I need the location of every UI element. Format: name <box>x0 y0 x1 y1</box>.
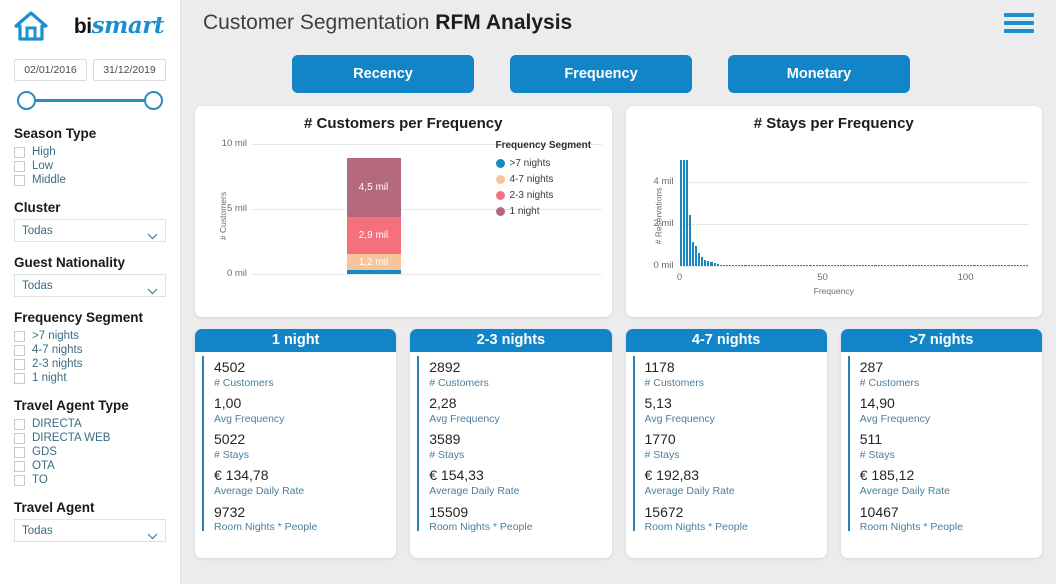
filter-checkbox-row[interactable]: 2-3 nights <box>14 357 166 371</box>
histogram-bar[interactable] <box>766 265 768 266</box>
x-axis-tick: 0 <box>677 272 682 283</box>
kpi-label: # Customers <box>645 377 827 391</box>
y-axis-tick: 4 mil <box>634 176 674 187</box>
histogram-bar[interactable] <box>915 265 917 266</box>
histogram-bar[interactable] <box>748 265 750 266</box>
filter-group-cluster: ClusterTodas <box>14 200 166 242</box>
kpi-label: Average Daily Rate <box>860 485 1042 499</box>
histogram-bar[interactable] <box>738 265 740 266</box>
histogram-bar[interactable] <box>720 265 722 266</box>
kpi-cards-row: 1 night4502# Customers1,00Avg Frequency5… <box>181 317 1056 558</box>
kpi-metric: 2892# Customers <box>419 359 611 390</box>
kpi-metric: 15672Room Nights * People <box>635 504 827 535</box>
histogram-bar[interactable] <box>1017 265 1019 266</box>
filter-title: Frequency Segment <box>14 310 166 325</box>
histogram-bar[interactable] <box>825 265 827 266</box>
filter-checkbox-row[interactable]: TO <box>14 473 166 487</box>
kpi-label: # Stays <box>429 449 611 463</box>
filter-title: Travel Agent <box>14 500 166 515</box>
histogram-bar[interactable] <box>788 265 790 266</box>
histogram-bar[interactable] <box>871 265 873 266</box>
legend-label: >7 nights <box>510 158 551 169</box>
histogram-bar[interactable] <box>942 265 944 266</box>
histogram-bar[interactable] <box>741 265 743 266</box>
histogram-bar[interactable] <box>822 265 824 266</box>
histogram-bar[interactable] <box>831 265 833 266</box>
home-icon[interactable] <box>14 10 48 42</box>
x-axis-tick: 50 <box>817 272 828 283</box>
histogram-bar[interactable] <box>977 265 979 266</box>
logo-bi: bi <box>74 15 92 38</box>
histogram-bar[interactable] <box>1007 265 1009 266</box>
bar-segment-2-3-nights[interactable]: 2,9 mil <box>347 217 401 255</box>
filter-group-frequency-segment: Frequency Segment>7 nights4-7 nights2-3 … <box>14 310 166 385</box>
kpi-label: Room Nights * People <box>645 521 827 535</box>
histogram-bar[interactable] <box>698 253 700 266</box>
histogram-bar[interactable] <box>874 265 876 266</box>
kpi-metric: 15509Room Nights * People <box>419 504 611 535</box>
histogram-bar[interactable] <box>912 265 914 266</box>
filter-title: Season Type <box>14 126 166 141</box>
kpi-metric: € 134,78Average Daily Rate <box>204 467 396 498</box>
histogram-bar[interactable] <box>785 265 787 266</box>
kpi-label: # Customers <box>429 377 611 391</box>
histogram-bar[interactable] <box>791 265 793 266</box>
histogram-bar[interactable] <box>843 265 845 266</box>
kpi-card-title: 1 night <box>195 329 396 352</box>
kpi-value: € 134,78 <box>214 467 396 485</box>
histogram-bar[interactable] <box>847 265 849 266</box>
y-axis-label: # Customers <box>218 192 228 240</box>
histogram-bar[interactable] <box>896 265 898 266</box>
histogram-bar[interactable] <box>964 265 966 266</box>
histogram-bar[interactable] <box>859 265 861 266</box>
histogram-bar[interactable] <box>933 265 935 266</box>
kpi-label: Room Nights * People <box>860 521 1042 535</box>
filter-checkbox-label: High <box>32 146 56 158</box>
histogram-bar[interactable] <box>970 265 972 266</box>
logo-smart: smart <box>92 12 164 39</box>
y-axis-tick: 10 mil <box>205 138 247 149</box>
kpi-metric: 1770# Stays <box>635 431 827 462</box>
histogram-bar[interactable] <box>757 265 759 266</box>
histogram-bar[interactable] <box>930 265 932 266</box>
histogram-bar[interactable] <box>695 246 697 266</box>
histogram-bar[interactable] <box>714 263 716 266</box>
brand-bar: bismart <box>14 0 166 45</box>
filter-group-travel-agent: Travel AgentTodas <box>14 500 166 542</box>
y-axis-label: # Reservations <box>653 188 663 245</box>
kpi-metric: 10467Room Nights * People <box>850 504 1042 535</box>
kpi-card-title: 2-3 nights <box>410 329 611 352</box>
tab-bar: RecencyFrequencyMonetary <box>181 45 1056 93</box>
slider-handle-right[interactable] <box>144 91 163 110</box>
gridline <box>680 266 1029 267</box>
kpi-metric: € 154,33Average Daily Rate <box>419 467 611 498</box>
filter-checkbox-row[interactable]: GDS <box>14 445 166 459</box>
histogram-bar[interactable] <box>816 265 818 266</box>
histogram-bar[interactable] <box>744 265 746 266</box>
filter-checkbox-row[interactable]: DIRECTA WEB <box>14 431 166 445</box>
page-title-light: Customer Segmentation <box>203 11 435 34</box>
charts-row: # Customers per Frequency # Customers 0 … <box>181 93 1056 317</box>
histogram-bar[interactable] <box>834 265 836 266</box>
kpi-value: 14,90 <box>860 395 1042 413</box>
histogram-bar[interactable] <box>967 265 969 266</box>
histogram-bar[interactable] <box>1011 265 1013 266</box>
histogram-bar[interactable] <box>763 265 765 266</box>
kpi-value: 3589 <box>429 431 611 449</box>
kpi-card: 2-3 nights2892# Customers2,28Avg Frequen… <box>410 329 611 558</box>
histogram-bar[interactable] <box>769 265 771 266</box>
histogram-bar[interactable] <box>998 265 1000 266</box>
filter-list: Season TypeHighLowMiddleClusterTodasGues… <box>14 126 166 542</box>
tab-frequency[interactable]: Frequency <box>510 55 692 93</box>
kpi-label: Average Daily Rate <box>214 485 396 499</box>
dropdown-value: Todas <box>22 225 53 237</box>
histogram-bar[interactable] <box>995 265 997 266</box>
kpi-metric: 2,28Avg Frequency <box>419 395 611 426</box>
y-axis-tick: 0 mil <box>634 260 674 271</box>
histogram-bar[interactable] <box>819 265 821 266</box>
kpi-value: 2,28 <box>429 395 611 413</box>
histogram-bar[interactable] <box>760 265 762 266</box>
y-axis-tick: 2 mil <box>634 218 674 229</box>
checkbox-icon[interactable] <box>14 419 25 430</box>
kpi-value: 10467 <box>860 504 1042 522</box>
date-to-input[interactable]: 31/12/2019 <box>93 59 166 81</box>
kpi-card-body: 4502# Customers1,00Avg Frequency5022# St… <box>195 352 396 535</box>
kpi-value: 1,00 <box>214 395 396 413</box>
kpi-card: >7 nights287# Customers14,90Avg Frequenc… <box>841 329 1042 558</box>
histogram-bar[interactable] <box>837 265 839 266</box>
histogram-bar[interactable] <box>680 160 682 266</box>
filter-group-guest-nationality: Guest NationalityTodas <box>14 255 166 297</box>
kpi-label: # Customers <box>860 377 1042 391</box>
histogram-bar[interactable] <box>726 265 728 266</box>
filter-checkbox-row[interactable]: 1 night <box>14 371 166 385</box>
kpi-label: Avg Frequency <box>860 413 1042 427</box>
chart-title: # Customers per Frequency <box>195 106 612 132</box>
histogram-bar[interactable] <box>775 265 777 266</box>
histogram-bar[interactable] <box>850 265 852 266</box>
kpi-card-title: 4-7 nights <box>626 329 827 352</box>
tab-monetary[interactable]: Monetary <box>728 55 910 93</box>
chevron-down-icon[interactable] <box>147 282 158 289</box>
chevron-down-icon[interactable] <box>147 527 158 534</box>
hamburger-bar <box>1004 29 1034 33</box>
bar-segment--7-nights[interactable] <box>347 270 401 274</box>
top-bar: Customer Segmentation RFM Analysis <box>181 0 1056 45</box>
histogram-bar[interactable] <box>782 265 784 266</box>
histogram-bar[interactable] <box>772 265 774 266</box>
kpi-card-body: 2892# Customers2,28Avg Frequency3589# St… <box>410 352 611 535</box>
kpi-metric: 9732Room Nights * People <box>204 504 396 535</box>
kpi-label: # Stays <box>645 449 827 463</box>
filter-checkbox-row[interactable]: >7 nights <box>14 329 166 343</box>
chevron-down-icon[interactable] <box>147 227 158 234</box>
histogram-bar[interactable] <box>683 160 685 266</box>
histogram-bar[interactable] <box>1014 265 1016 266</box>
checkbox-icon[interactable] <box>14 447 25 458</box>
checkbox-icon[interactable] <box>14 161 25 172</box>
kpi-value: 15509 <box>429 504 611 522</box>
kpi-metric: 5,13Avg Frequency <box>635 395 827 426</box>
kpi-value: 511 <box>860 431 1042 449</box>
kpi-metric: € 192,83Average Daily Rate <box>635 467 827 498</box>
filter-title: Guest Nationality <box>14 255 166 270</box>
x-axis-label: Frequency <box>814 286 854 296</box>
filter-checkbox-label: >7 nights <box>32 330 79 342</box>
histogram-bar[interactable] <box>921 265 923 266</box>
checkbox-icon[interactable] <box>14 175 25 186</box>
histogram-bar[interactable] <box>717 264 719 266</box>
filter-checkbox-label: DIRECTA <box>32 418 82 430</box>
histogram-bar[interactable] <box>707 261 709 266</box>
kpi-label: Room Nights * People <box>214 521 396 535</box>
slider-track <box>26 99 154 102</box>
histogram-bar[interactable] <box>862 265 864 266</box>
checkbox-icon[interactable] <box>14 345 25 356</box>
legend-color-dot <box>496 175 505 184</box>
kpi-label: Average Daily Rate <box>429 485 611 499</box>
histogram-bar[interactable] <box>704 260 706 266</box>
customers-per-frequency-chart: # Customers per Frequency # Customers 0 … <box>195 106 612 317</box>
histogram-bar[interactable] <box>809 265 811 266</box>
sidebar: bismart 02/01/2016 31/12/2019 Season Typ… <box>0 0 181 584</box>
histogram-bar[interactable] <box>865 265 867 266</box>
kpi-metric: 511# Stays <box>850 431 1042 462</box>
histogram-bar[interactable] <box>840 265 842 266</box>
histogram-bar[interactable] <box>868 265 870 266</box>
kpi-label: Avg Frequency <box>214 413 396 427</box>
filter-checkbox-label: OTA <box>32 460 55 472</box>
kpi-metric: 4502# Customers <box>204 359 396 390</box>
kpi-card-body: 1178# Customers5,13Avg Frequency1770# St… <box>626 352 827 535</box>
checkbox-icon[interactable] <box>14 359 25 370</box>
histogram-bar[interactable] <box>905 265 907 266</box>
histogram-bar[interactable] <box>751 265 753 266</box>
filter-group-travel-agent-type: Travel Agent TypeDIRECTADIRECTA WEBGDSOT… <box>14 398 166 487</box>
filter-dropdown[interactable]: Todas <box>14 219 166 242</box>
kpi-value: 1770 <box>645 431 827 449</box>
histogram-bar[interactable] <box>1004 265 1006 266</box>
kpi-metric: 14,90Avg Frequency <box>850 395 1042 426</box>
histogram-bar[interactable] <box>1026 265 1028 266</box>
histogram-bar[interactable] <box>899 265 901 266</box>
bar-segment-4-7-nights[interactable]: 1,2 mil <box>347 254 401 270</box>
hamburger-menu-icon[interactable] <box>1004 13 1034 33</box>
histogram-bar[interactable] <box>806 265 808 266</box>
kpi-value: 1178 <box>645 359 827 377</box>
histogram-bar[interactable] <box>884 265 886 266</box>
date-range-slider[interactable] <box>14 87 166 113</box>
kpi-value: 15672 <box>645 504 827 522</box>
histogram-bar[interactable] <box>797 265 799 266</box>
filter-checkbox-label: TO <box>32 474 48 486</box>
histogram-bar[interactable] <box>813 265 815 266</box>
kpi-card: 1 night4502# Customers1,00Avg Frequency5… <box>195 329 396 558</box>
histogram-bar[interactable] <box>980 265 982 266</box>
histogram-bar[interactable] <box>723 265 725 266</box>
filter-title: Cluster <box>14 200 166 215</box>
main-content: Customer Segmentation RFM Analysis Recen… <box>181 0 1056 584</box>
dropdown-value: Todas <box>22 280 53 292</box>
histogram-bar[interactable] <box>890 265 892 266</box>
kpi-card-title: >7 nights <box>841 329 1042 352</box>
filter-dropdown[interactable]: Todas <box>14 519 166 542</box>
histogram-bar[interactable] <box>973 265 975 266</box>
kpi-label: Avg Frequency <box>645 413 827 427</box>
tab-recency[interactable]: Recency <box>292 55 474 93</box>
histogram-bar[interactable] <box>893 265 895 266</box>
histogram-bar[interactable] <box>828 265 830 266</box>
kpi-value: 287 <box>860 359 1042 377</box>
histogram-bar[interactable] <box>1020 265 1022 266</box>
histogram-bar[interactable] <box>729 265 731 266</box>
filter-checkbox-row[interactable]: Low <box>14 159 166 173</box>
kpi-label: Average Daily Rate <box>645 485 827 499</box>
histogram-bar[interactable] <box>878 265 880 266</box>
legend-color-dot <box>496 207 505 216</box>
filter-checkbox-row[interactable]: DIRECTA <box>14 417 166 431</box>
date-from-input[interactable]: 02/01/2016 <box>14 59 87 81</box>
histogram-bar[interactable] <box>927 265 929 266</box>
kpi-value: 2892 <box>429 359 611 377</box>
histogram-bar[interactable] <box>887 265 889 266</box>
page-title-bold: RFM Analysis <box>435 11 572 34</box>
bar-value-label: 2,9 mil <box>359 230 388 241</box>
filter-checkbox-label: 1 night <box>32 372 67 384</box>
histogram-bar[interactable] <box>735 265 737 266</box>
histogram-bar[interactable] <box>1001 265 1003 266</box>
kpi-value: € 185,12 <box>860 467 1042 485</box>
legend-item[interactable]: 4-7 nights <box>496 171 604 187</box>
histogram-bar[interactable] <box>952 265 954 266</box>
date-range-filter: 02/01/2016 31/12/2019 <box>14 59 166 113</box>
histogram-bar[interactable] <box>1023 265 1025 266</box>
brand-logo: bismart <box>54 14 166 37</box>
histogram-bar[interactable] <box>803 265 805 266</box>
histogram-bar[interactable] <box>686 160 688 266</box>
legend-label: 1 night <box>510 206 540 217</box>
filter-checkbox-label: 4-7 nights <box>32 344 83 356</box>
checkbox-icon[interactable] <box>14 475 25 486</box>
checkbox-icon[interactable] <box>14 461 25 472</box>
filter-checkbox-label: 2-3 nights <box>32 358 83 370</box>
gridline <box>253 274 602 275</box>
histogram-bar[interactable] <box>794 265 796 266</box>
filter-checkbox-row[interactable]: 4-7 nights <box>14 343 166 357</box>
kpi-metric: 1178# Customers <box>635 359 827 390</box>
kpi-label: # Stays <box>214 449 396 463</box>
filter-title: Travel Agent Type <box>14 398 166 413</box>
histogram-bar[interactable] <box>961 265 963 266</box>
histogram-bar[interactable] <box>732 265 734 266</box>
histogram-bar[interactable] <box>902 265 904 266</box>
filter-checkbox-row[interactable]: OTA <box>14 459 166 473</box>
hamburger-bar <box>1004 13 1034 17</box>
kpi-metric: 1,00Avg Frequency <box>204 395 396 426</box>
legend-item[interactable]: 2-3 nights <box>496 187 604 203</box>
filter-dropdown[interactable]: Todas <box>14 274 166 297</box>
filter-checkbox-row[interactable]: High <box>14 145 166 159</box>
histogram-bar[interactable] <box>779 265 781 266</box>
stays-per-frequency-chart: # Stays per Frequency # Reservations 0 m… <box>626 106 1043 317</box>
legend-color-dot <box>496 191 505 200</box>
kpi-value: € 154,33 <box>429 467 611 485</box>
legend-color-dot <box>496 159 505 168</box>
checkbox-icon[interactable] <box>14 147 25 158</box>
legend-item[interactable]: >7 nights <box>496 155 604 171</box>
stacked-bar[interactable]: 4,5 mil2,9 mil1,2 mil <box>347 158 401 274</box>
histogram-bar[interactable] <box>989 265 991 266</box>
histogram-bar[interactable] <box>939 265 941 266</box>
dashboard-root: bismart 02/01/2016 31/12/2019 Season Typ… <box>0 0 1056 584</box>
y-axis-tick: 0 mil <box>205 268 247 279</box>
kpi-label: # Stays <box>860 449 1042 463</box>
histogram-bar[interactable] <box>692 242 694 266</box>
checkbox-icon[interactable] <box>14 433 25 444</box>
kpi-metric: 5022# Stays <box>204 431 396 462</box>
slider-handle-left[interactable] <box>17 91 36 110</box>
filter-checkbox-label: Low <box>32 160 53 172</box>
filter-checkbox-row[interactable]: Middle <box>14 173 166 187</box>
chart-legend: Frequency Segment >7 nights4-7 nights2-3… <box>496 140 604 219</box>
kpi-card-body: 287# Customers14,90Avg Frequency511# Sta… <box>841 352 1042 535</box>
legend-title: Frequency Segment <box>496 140 604 151</box>
histogram-bars <box>680 152 1029 266</box>
histogram-bar[interactable] <box>701 257 703 266</box>
histogram-bar[interactable] <box>918 265 920 266</box>
filter-group-season-type: Season TypeHighLowMiddle <box>14 126 166 187</box>
kpi-metric: € 185,12Average Daily Rate <box>850 467 1042 498</box>
kpi-value: 5,13 <box>645 395 827 413</box>
kpi-card: 4-7 nights1178# Customers5,13Avg Frequen… <box>626 329 827 558</box>
histogram-bar[interactable] <box>800 265 802 266</box>
histogram-bar[interactable] <box>946 265 948 266</box>
histogram-bar[interactable] <box>992 265 994 266</box>
histogram-bar[interactable] <box>983 265 985 266</box>
histogram-bar[interactable] <box>908 265 910 266</box>
legend-item[interactable]: 1 night <box>496 203 604 219</box>
histogram-bar[interactable] <box>710 262 712 266</box>
histogram-bar[interactable] <box>924 265 926 266</box>
filter-checkbox-label: GDS <box>32 446 57 458</box>
kpi-value: € 192,83 <box>645 467 827 485</box>
histogram-bar[interactable] <box>689 215 691 266</box>
kpi-value: 4502 <box>214 359 396 377</box>
kpi-label: Avg Frequency <box>429 413 611 427</box>
histogram-bar[interactable] <box>853 265 855 266</box>
chart-title: # Stays per Frequency <box>626 106 1043 132</box>
histogram-bar[interactable] <box>754 265 756 266</box>
histogram-bar[interactable] <box>955 265 957 266</box>
histogram-bar[interactable] <box>958 265 960 266</box>
checkbox-icon[interactable] <box>14 331 25 342</box>
histogram-bar[interactable] <box>936 265 938 266</box>
page-title: Customer Segmentation RFM Analysis <box>203 11 572 35</box>
bar-value-label: 1,2 mil <box>359 257 388 268</box>
bar-segment-1-night[interactable]: 4,5 mil <box>347 158 401 216</box>
histogram-bar[interactable] <box>881 265 883 266</box>
checkbox-icon[interactable] <box>14 373 25 384</box>
histogram-bar[interactable] <box>856 265 858 266</box>
histogram-bar[interactable] <box>986 265 988 266</box>
filter-checkbox-label: DIRECTA WEB <box>32 432 110 444</box>
y-axis-tick: 5 mil <box>205 203 247 214</box>
histogram-bar[interactable] <box>949 265 951 266</box>
